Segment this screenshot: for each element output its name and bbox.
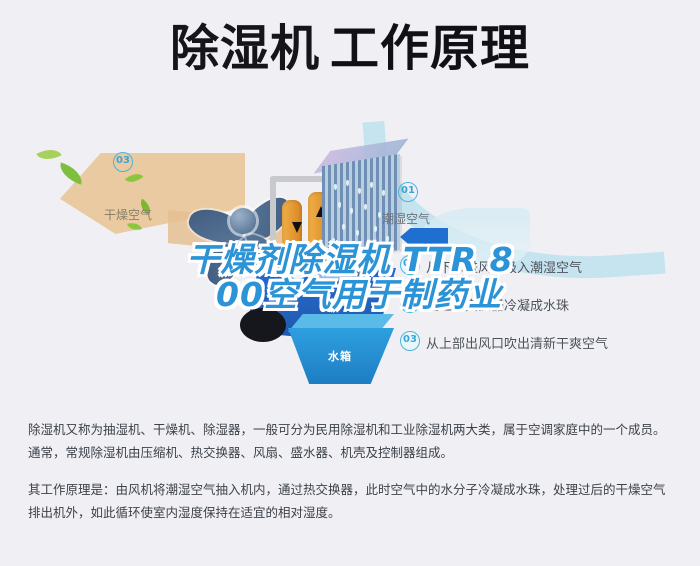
dry-air-label: 干燥空气 [104,206,152,223]
dehumidifier-diagram: 水箱 02 热交换器 01 潮湿空气 03 干燥空气 01从下部进风口吸入潮湿空… [0,118,700,403]
legend-item-text: 从上部出风口吹出清新干爽空气 [426,337,608,352]
page-title-primary: 除湿机 [170,20,320,77]
badge-02: 02 [400,293,420,313]
legend-item: 01从下部进风口吸入潮湿空气 [400,256,700,294]
body-paragraph-1: 除湿机又称为抽湿机、干燥机、除湿器，一般可分为民用除湿机和工业除湿机两大类，属于… [28,418,676,464]
water-tank-label: 水箱 [328,348,352,364]
legend-item-text: 通过热交换器冷凝成水珠 [426,299,569,314]
infographic-page: 除湿机工作原理 [0,0,700,566]
water-tank: 水箱 [288,314,394,384]
badge-03: 03 [113,152,133,172]
badge-02: 02 [288,260,308,280]
body-copy: 除湿机又称为抽湿机、干燥机、除湿器，一般可分为民用除湿机和工业除湿机两大类，属于… [28,418,676,539]
page-title-secondary: 工作原理 [330,20,530,77]
legend-item: 03从上部出风口吹出清新干爽空气 [400,332,700,370]
badge-01: 01 [400,255,420,275]
leaf-icon [36,144,62,166]
leaf-icon [56,162,85,184]
badge-01: 01 [398,182,418,202]
body-paragraph-2: 其工作原理是：由风机将潮湿空气抽入机内，通过热交换器，此时空气中的水分子冷凝成水… [28,478,676,524]
legend-item-text: 从下部进风口吸入潮湿空气 [426,261,582,276]
page-title: 除湿机工作原理 [0,24,700,73]
process-legend: 01从下部进风口吸入潮湿空气 02通过热交换器冷凝成水珠 03从上部出风口吹出清… [400,256,700,370]
inlet-arrow-icon [400,228,448,246]
legend-item: 02通过热交换器冷凝成水珠 [400,294,700,332]
heat-exchanger-callout: 热交换器 [311,260,369,281]
badge-03: 03 [400,331,420,351]
machine-wheel [240,308,286,342]
humid-air-label: 潮湿空气 [382,210,430,227]
